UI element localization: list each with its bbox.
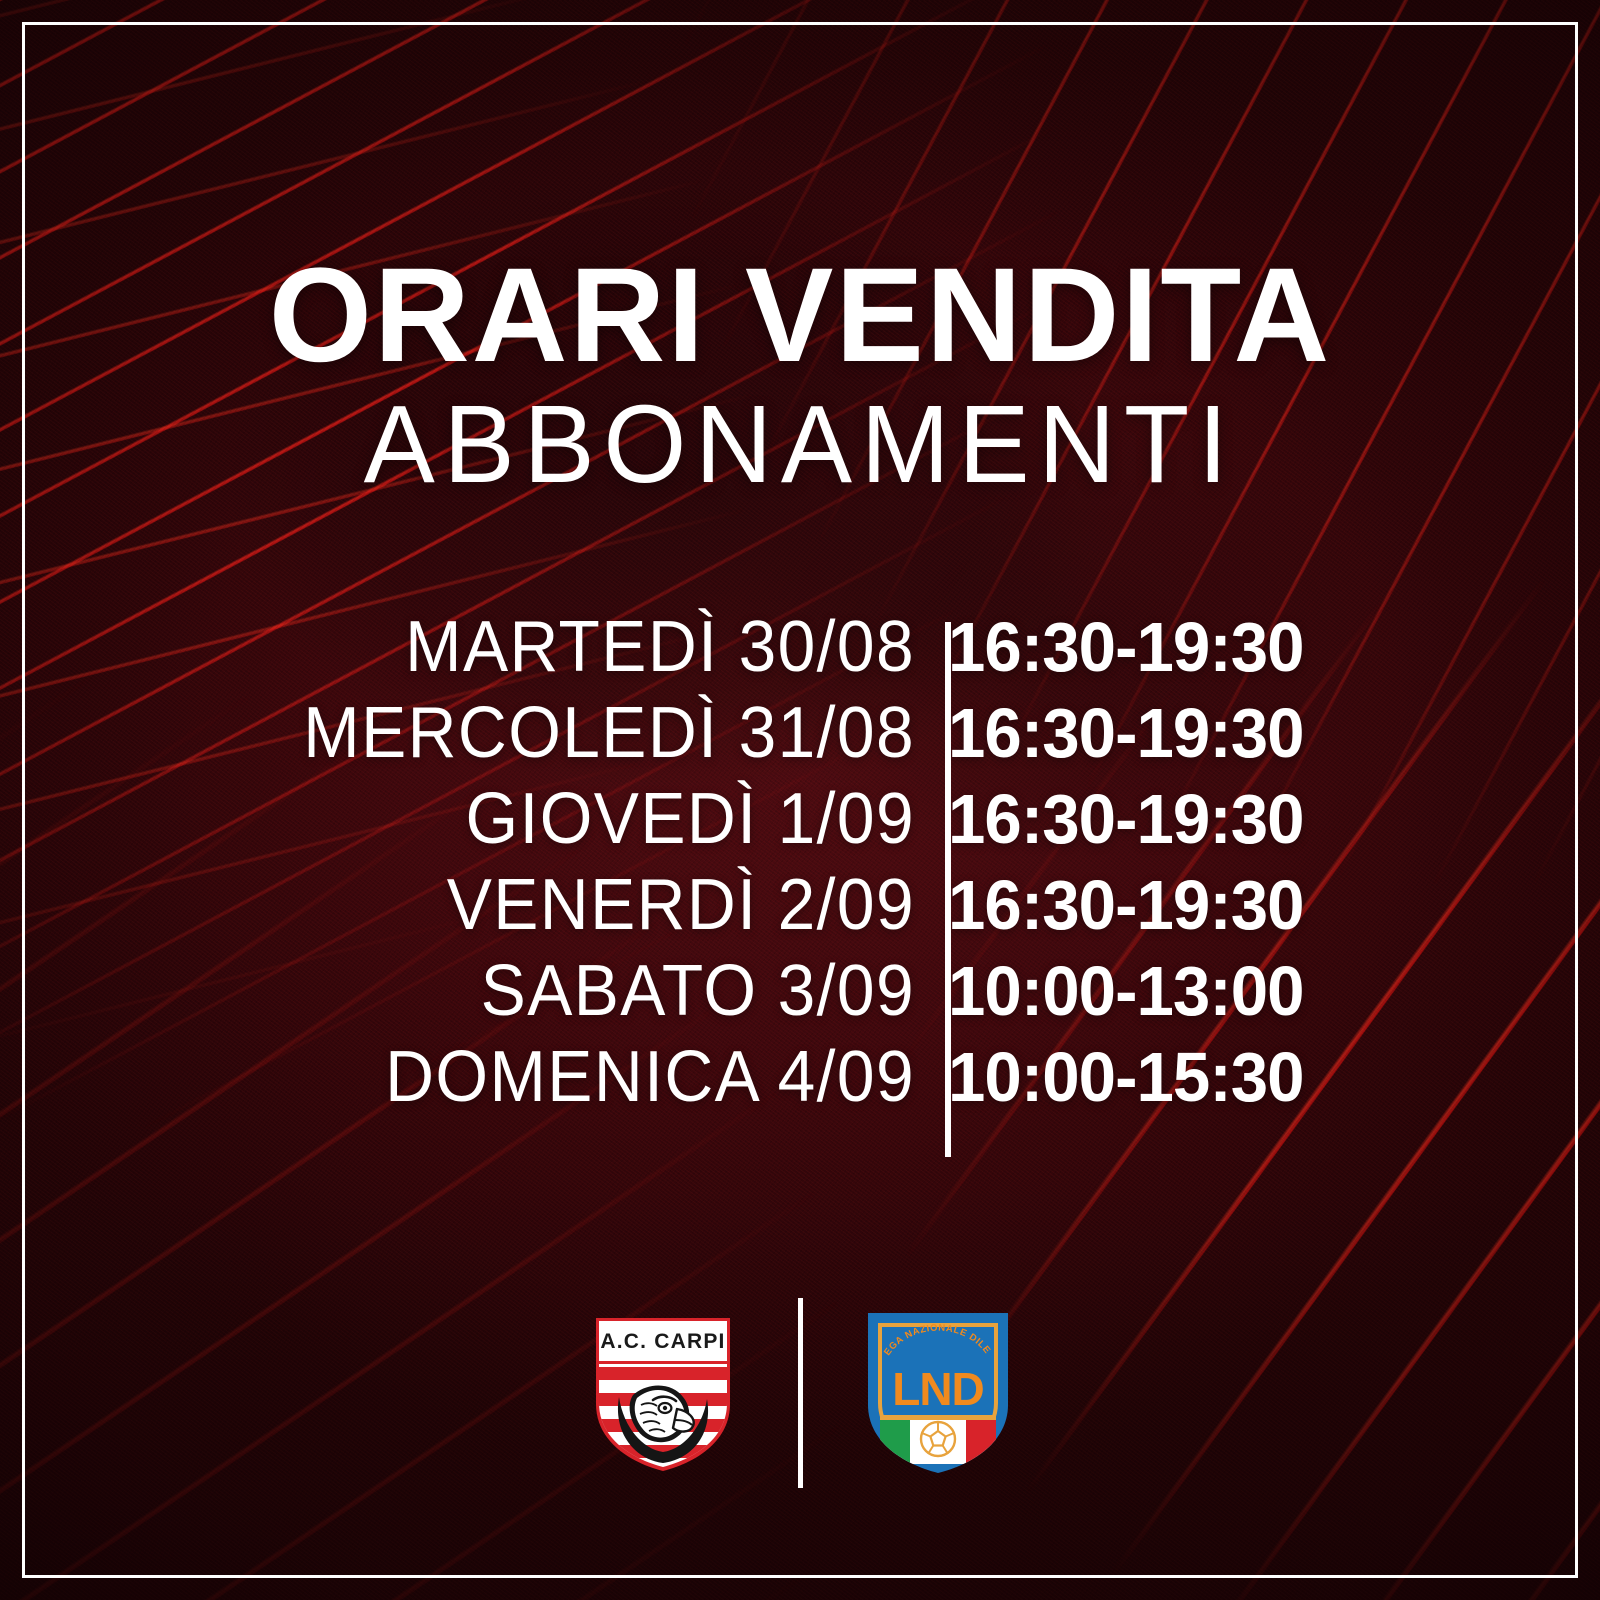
club-crest-slot: A.C. CARPI — [528, 1315, 798, 1471]
schedule-time-value: 16:30-19:30 — [948, 604, 1304, 690]
page-title: ORARI VENDITA — [8, 252, 1592, 381]
table-row: GIOVEDÌ 1/09 16:30-19:30 — [0, 776, 1600, 862]
schedule-day-label: MARTEDÌ 30/08 — [55, 604, 915, 690]
schedule-time-value: 10:00-13:00 — [948, 948, 1304, 1034]
schedule-day-label: VENERDÌ 2/09 — [55, 862, 915, 948]
schedule-vertical-divider — [945, 622, 951, 1157]
schedule-time-value: 16:30-19:30 — [948, 862, 1304, 948]
schedule-time-value: 16:30-19:30 — [948, 776, 1304, 862]
title-block: ORARI VENDITA ABBONAMENTI — [0, 252, 1600, 501]
page-subtitle: ABBONAMENTI — [24, 389, 1576, 501]
table-row: VENERDÌ 2/09 16:30-19:30 — [0, 862, 1600, 948]
schedule-day-label: SABATO 3/09 — [55, 948, 915, 1034]
footer-crests: A.C. CARPI — [0, 1298, 1600, 1488]
table-row: DOMENICA 4/09 10:00-15:30 — [0, 1034, 1600, 1120]
poster-canvas: ORARI VENDITA ABBONAMENTI MARTEDÌ 30/08 … — [0, 0, 1600, 1600]
table-row: MERCOLEDÌ 31/08 16:30-19:30 — [0, 690, 1600, 776]
schedule-time-value: 16:30-19:30 — [948, 690, 1304, 776]
ac-carpi-crest-icon: A.C. CARPI — [594, 1315, 732, 1471]
schedule-day-label: MERCOLEDÌ 31/08 — [55, 690, 915, 776]
schedule-day-label: DOMENICA 4/09 — [55, 1034, 915, 1120]
table-row: SABATO 3/09 10:00-13:00 — [0, 948, 1600, 1034]
league-crest-slot: FIGC LEGA NAZIONALE DILETTANTI LND — [803, 1309, 1073, 1477]
lnd-crest-icon: FIGC LEGA NAZIONALE DILETTANTI LND — [864, 1309, 1012, 1477]
table-row: MARTEDÌ 30/08 16:30-19:30 — [0, 604, 1600, 690]
schedule-time-value: 10:00-15:30 — [948, 1034, 1304, 1120]
svg-text:LND: LND — [892, 1363, 984, 1415]
schedule-table: MARTEDÌ 30/08 16:30-19:30 MERCOLEDÌ 31/0… — [0, 604, 1600, 1120]
schedule-day-label: GIOVEDÌ 1/09 — [55, 776, 915, 862]
svg-text:A.C. CARPI: A.C. CARPI — [600, 1330, 725, 1353]
poster-content: ORARI VENDITA ABBONAMENTI MARTEDÌ 30/08 … — [0, 0, 1600, 1600]
